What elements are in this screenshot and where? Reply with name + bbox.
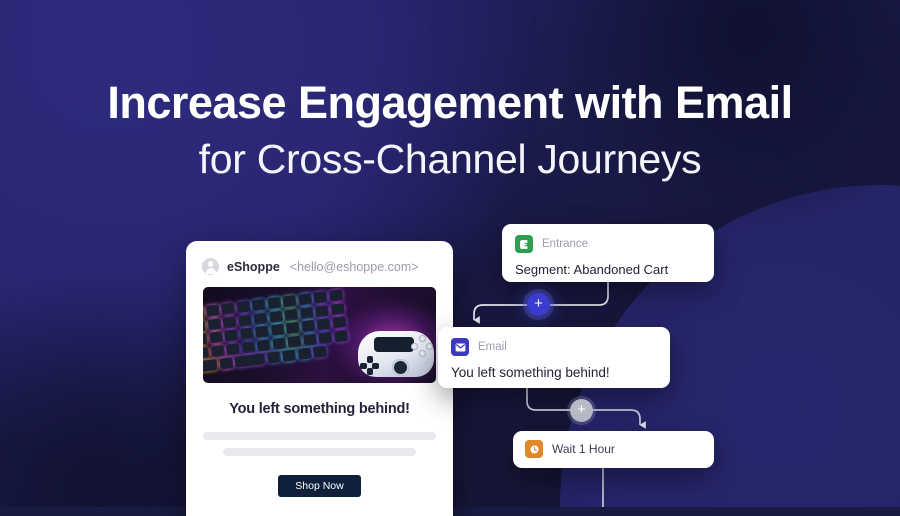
wait-node-header: Wait 1 Hour	[525, 440, 702, 458]
email-node-kind: Email	[478, 341, 507, 353]
plus-icon: +	[577, 402, 586, 417]
flow-node-wait[interactable]: Wait 1 Hour	[513, 431, 714, 468]
add-step-button-2[interactable]: +	[570, 399, 593, 422]
entrance-node-kind: Entrance	[542, 238, 588, 250]
envelope-icon	[451, 338, 469, 356]
entrance-icon	[515, 235, 533, 253]
plus-icon: +	[534, 296, 543, 311]
clock-icon	[525, 440, 543, 458]
email-node-title: You left something behind!	[451, 365, 657, 380]
wait-node-label: Wait 1 Hour	[552, 442, 615, 456]
add-step-button-1[interactable]: +	[527, 293, 550, 316]
email-node-header: Email	[451, 338, 657, 356]
flow-connectors	[0, 0, 900, 507]
journey-flow-canvas: Entrance Segment: Abandoned Cart + Email…	[0, 0, 900, 507]
flow-node-entrance[interactable]: Entrance Segment: Abandoned Cart	[502, 224, 714, 282]
entrance-node-header: Entrance	[515, 235, 701, 253]
entrance-node-title: Segment: Abandoned Cart	[515, 262, 701, 277]
flow-node-email[interactable]: Email You left something behind!	[438, 327, 670, 388]
